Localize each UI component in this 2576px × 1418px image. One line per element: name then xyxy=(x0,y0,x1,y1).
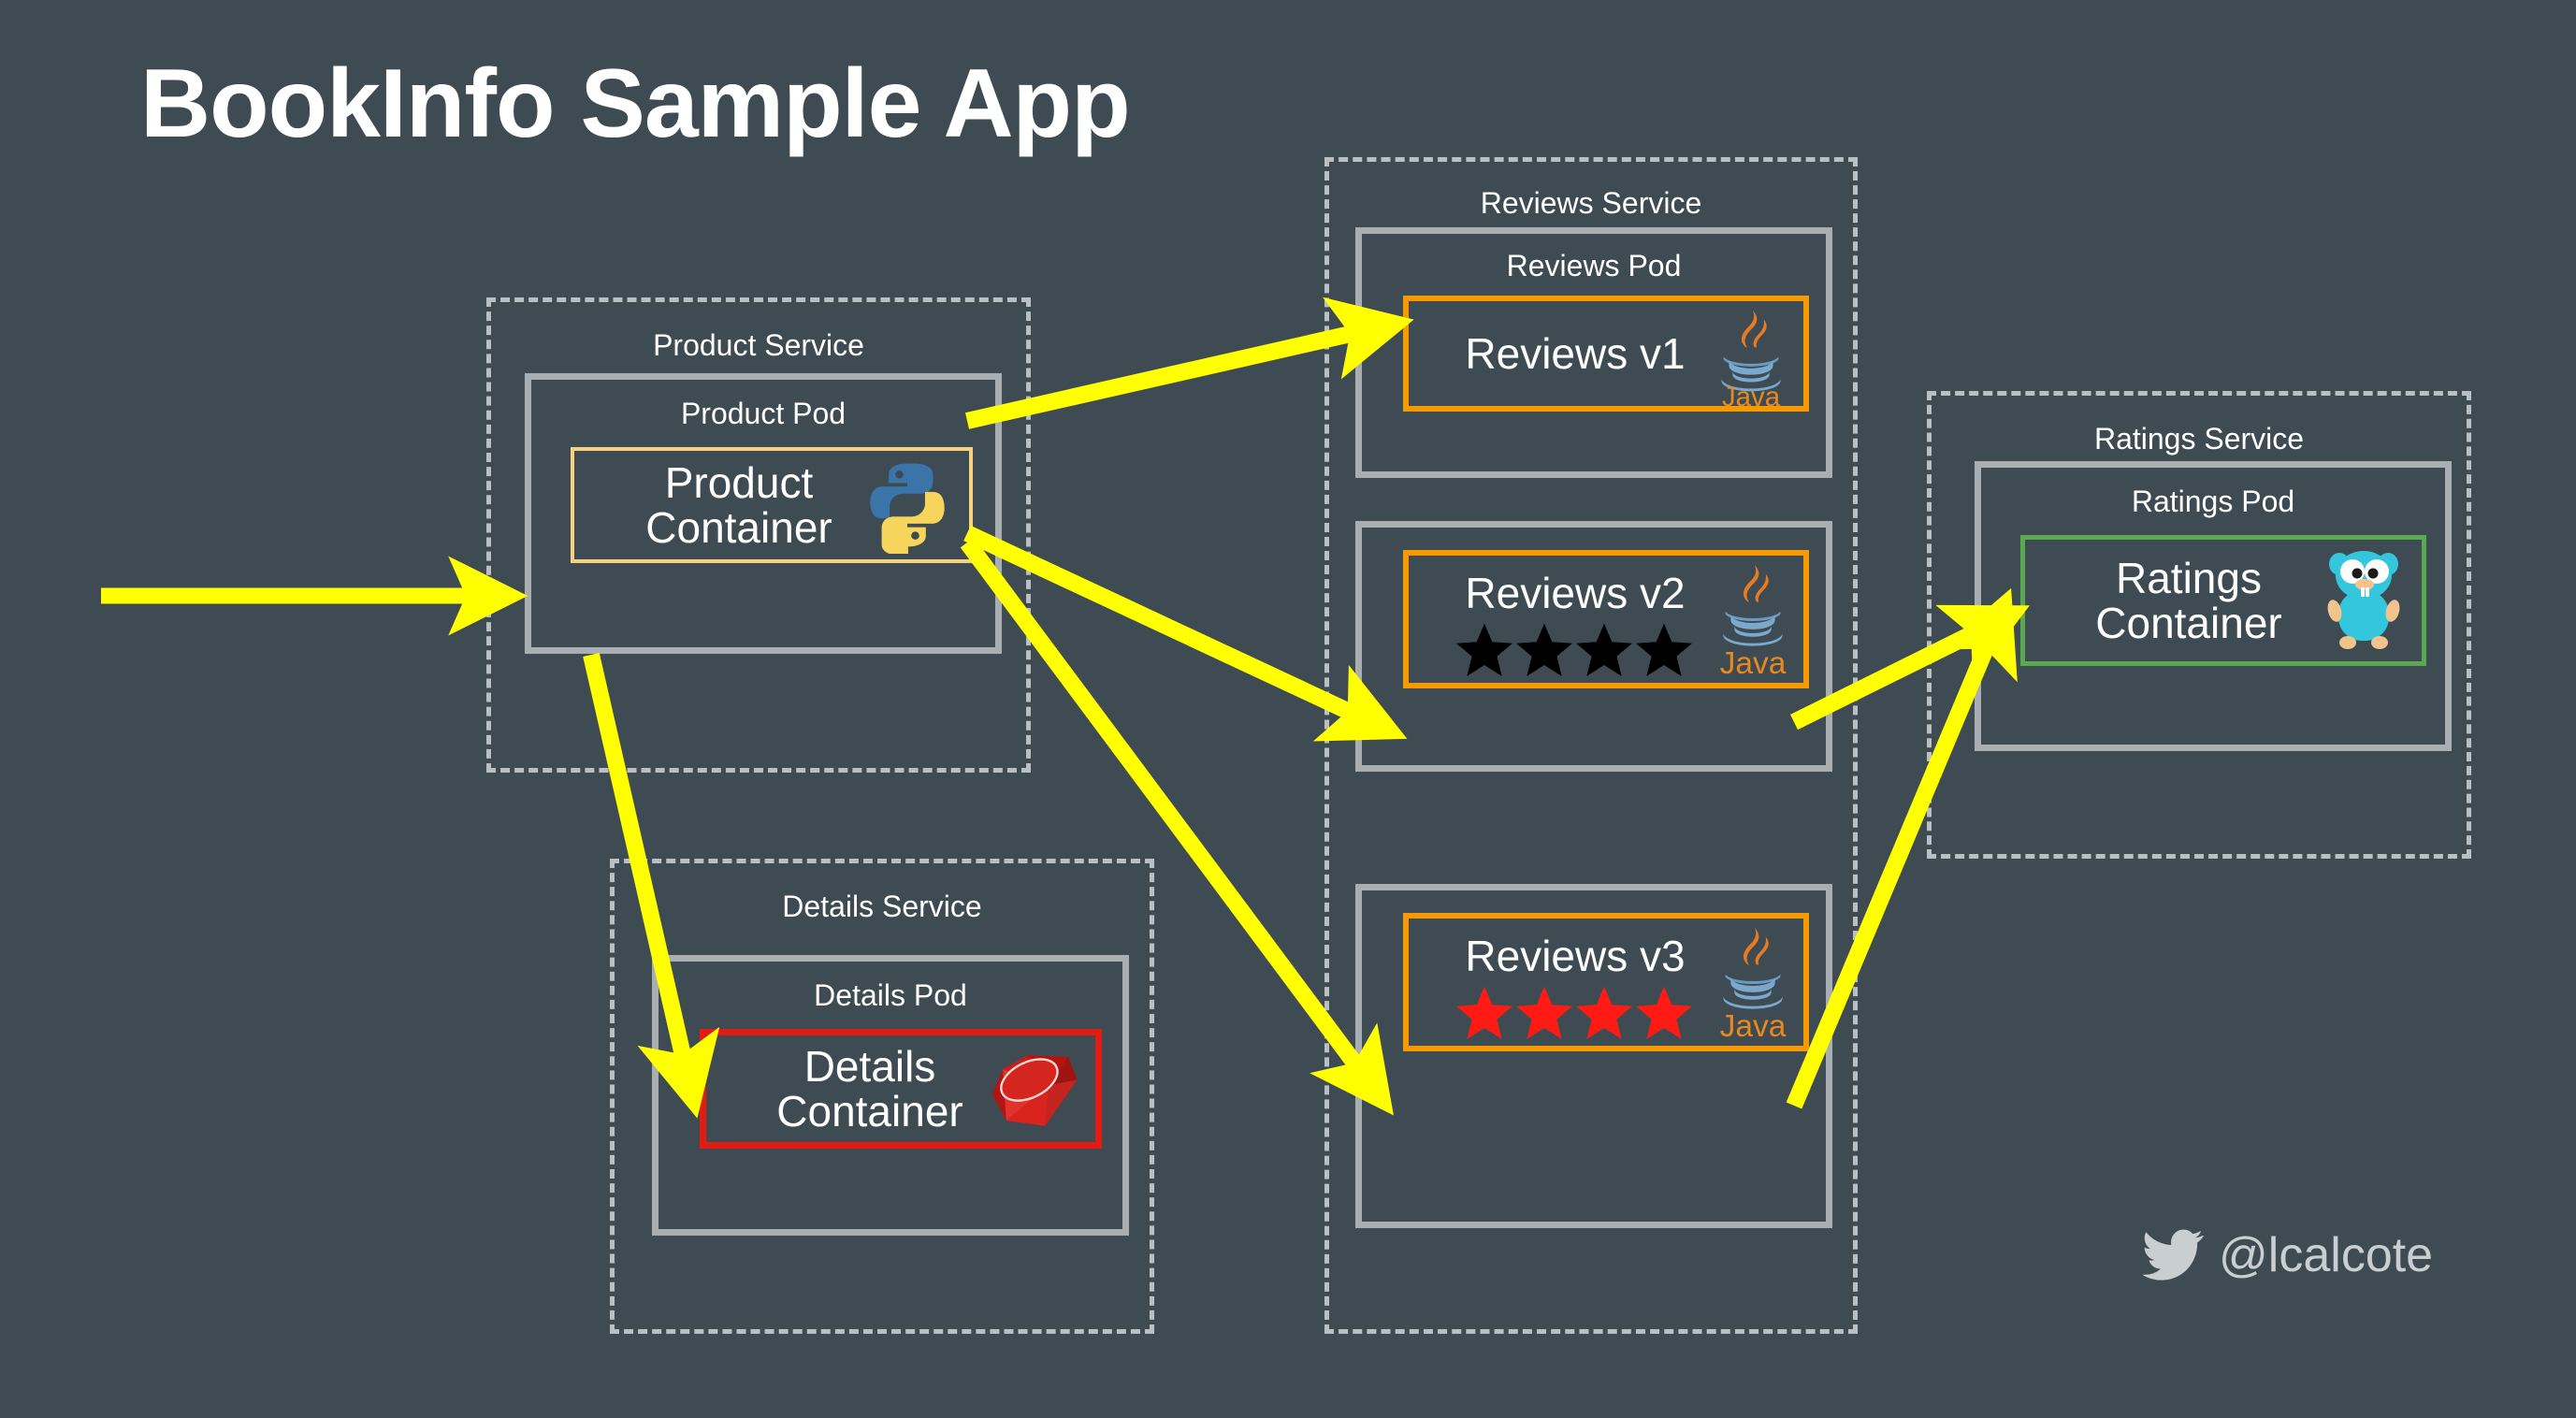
service-box-product: Product Service Product Pod Product Cont… xyxy=(486,297,1031,773)
pod-label-details: Details Pod xyxy=(658,978,1122,1013)
pod-label-reviews: Reviews Pod xyxy=(1362,249,1826,283)
java-logo-text: Java xyxy=(1720,646,1787,681)
service-box-details: Details Service Details Pod Details Cont… xyxy=(610,859,1154,1334)
container-box-reviews-v2[interactable]: Reviews v2 Java xyxy=(1403,550,1809,688)
container-box-details[interactable]: Details Container xyxy=(700,1029,1102,1149)
go-gopher-logo xyxy=(2319,545,2409,656)
java-logo-text: Java xyxy=(1722,382,1781,410)
diagram-canvas: BookInfo Sample App Product Service Prod… xyxy=(0,0,2576,1418)
service-box-reviews: Reviews Service Reviews Pod Reviews v1 J… xyxy=(1324,157,1858,1334)
container-box-ratings[interactable]: Ratings Container xyxy=(2020,535,2426,666)
java-logo: Java xyxy=(1708,307,1794,410)
star-icon xyxy=(1635,984,1693,1042)
star-rating-reviews-v2 xyxy=(1455,621,1693,679)
java-logo: Java xyxy=(1710,924,1796,1046)
star-icon xyxy=(1575,984,1633,1042)
star-icon xyxy=(1515,984,1573,1042)
container-label-reviews-v2: Reviews v2 xyxy=(1409,571,1742,615)
pod-label-ratings: Ratings Pod xyxy=(1981,485,2445,519)
star-icon xyxy=(1455,621,1513,679)
pod-box-reviews-v2: Reviews v2 Java xyxy=(1355,521,1832,772)
container-label-product: Product Container xyxy=(645,460,832,551)
ruby-logo xyxy=(987,1044,1084,1134)
java-logo: Java xyxy=(1710,561,1796,683)
pod-box-reviews-v1: Reviews Pod Reviews v1 Java xyxy=(1355,227,1832,478)
container-label-reviews-v1: Reviews v1 xyxy=(1465,331,1685,376)
container-box-reviews-v3[interactable]: Reviews v3 Java xyxy=(1403,913,1809,1051)
container-label-reviews-v3: Reviews v3 xyxy=(1409,933,1742,978)
pod-box-details: Details Pod Details Container xyxy=(652,955,1129,1236)
star-icon xyxy=(1635,621,1693,679)
container-box-reviews-v1[interactable]: Reviews v1 Java xyxy=(1403,296,1809,412)
twitter-bird-icon xyxy=(2142,1229,2204,1281)
service-label-product: Product Service xyxy=(491,328,1026,363)
twitter-handle: @lcalcote xyxy=(2219,1227,2433,1283)
star-icon xyxy=(1455,984,1513,1042)
service-label-details: Details Service xyxy=(615,890,1150,924)
pod-box-ratings: Ratings Pod Ratings Container xyxy=(1975,461,2452,751)
pod-box-reviews-v3: Reviews v3 Java xyxy=(1355,884,1832,1228)
service-box-ratings: Ratings Service Ratings Pod Ratings Cont… xyxy=(1927,391,2471,859)
star-rating-reviews-v3 xyxy=(1455,984,1693,1042)
service-label-ratings: Ratings Service xyxy=(1932,422,2467,456)
container-box-product[interactable]: Product Container xyxy=(571,447,973,563)
container-label-ratings: Ratings Container xyxy=(2095,556,2281,646)
page-title: BookInfo Sample App xyxy=(140,49,1130,160)
service-label-reviews: Reviews Service xyxy=(1329,186,1853,221)
python-logo xyxy=(859,456,956,554)
star-icon xyxy=(1515,621,1573,679)
pod-box-product: Product Pod Product Container xyxy=(525,373,1002,654)
container-label-details: Details Container xyxy=(776,1044,962,1135)
twitter-credit[interactable]: @lcalcote xyxy=(2142,1227,2433,1283)
pod-label-product: Product Pod xyxy=(531,397,995,431)
java-logo-text: Java xyxy=(1720,1009,1787,1044)
star-icon xyxy=(1575,621,1633,679)
